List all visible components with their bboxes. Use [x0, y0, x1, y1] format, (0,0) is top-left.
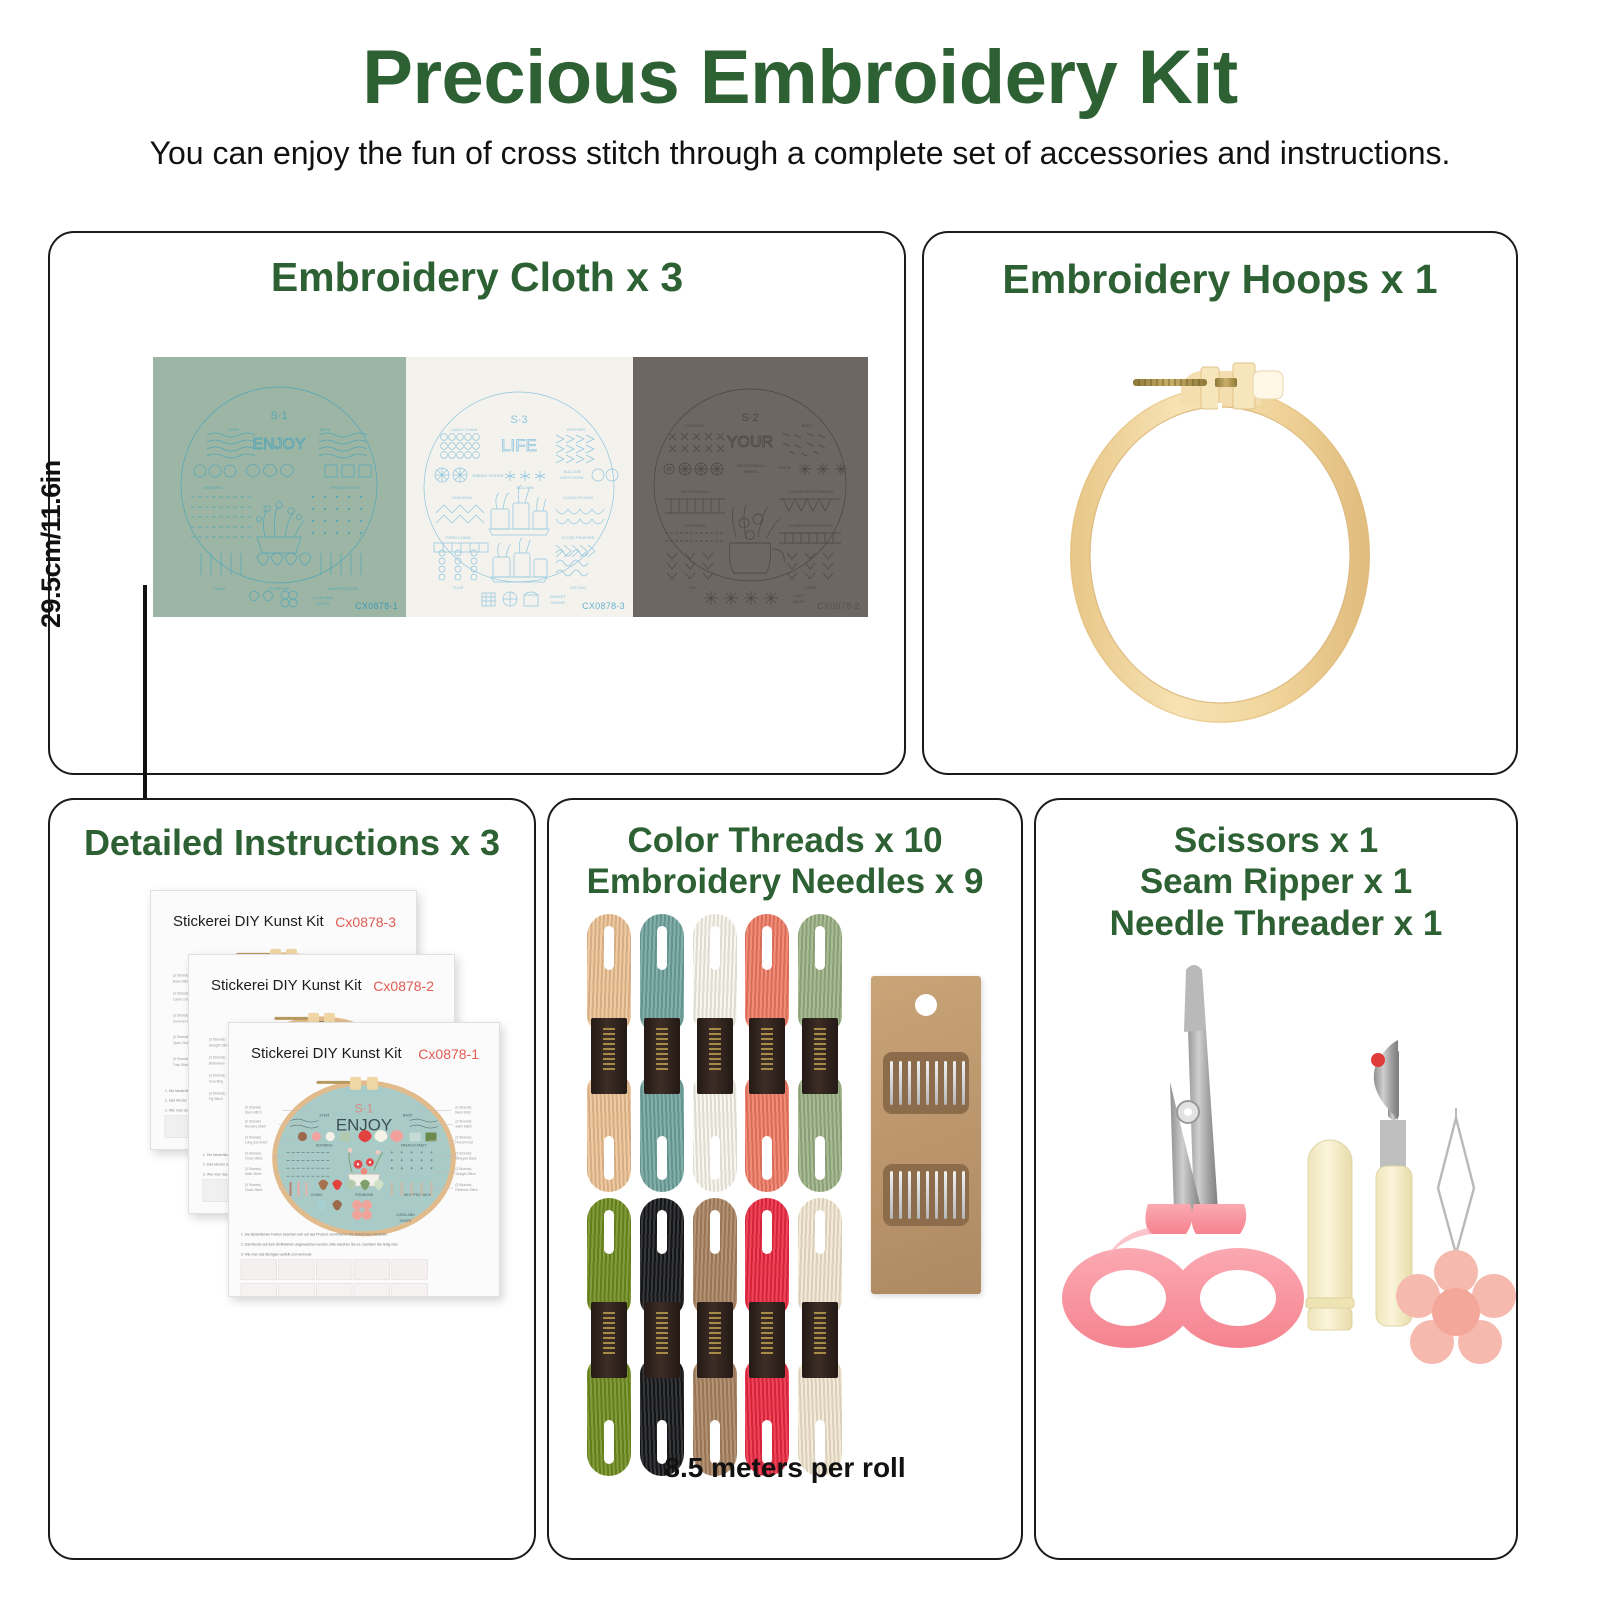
skein-label-band: [802, 1018, 838, 1094]
svg-text:(3 Strands): (3 Strands): [245, 1183, 261, 1187]
svg-text:S·1: S·1: [270, 410, 287, 422]
panel-detailed-instructions: Detailed Instructions x 3 Stickerei DIY …: [48, 798, 536, 1560]
svg-text:S·3: S·3: [510, 414, 527, 426]
needle: [899, 1171, 902, 1219]
panel-title-threads-line2: Embroidery Needles x 9: [549, 861, 1021, 902]
panel-tools: Scissors x 1 Seam Ripper x 1 Needle Thre…: [1034, 798, 1518, 1560]
svg-text:Back stitch: Back stitch: [455, 1111, 471, 1115]
panel-embroidery-hoops: Embroidery Hoops x 1: [922, 231, 1518, 775]
skein-hole-top: [815, 1210, 825, 1254]
instruction-sheet-1: Stickerei DIY Kunst Kit Cx0878-1 S·1 ENJ…: [228, 1022, 500, 1297]
svg-text:CHEVRON: CHEVRON: [452, 495, 472, 500]
svg-text:3. Wie man das Stichgarn aufte: 3. Wie man das Stichgarn aufteilt und ve…: [241, 1253, 312, 1257]
panel-threads-needles: Color Threads x 10 Embroidery Needles x …: [547, 798, 1023, 1560]
hoop-image-holder: [924, 313, 1516, 753]
needle: [962, 1171, 965, 1219]
needle: [935, 1061, 938, 1105]
skein-hole-top: [604, 1210, 614, 1254]
svg-text:FISHBONE: FISHBONE: [269, 586, 290, 591]
instruction-sheet-stack: Stickerei DIY Kunst Kit Cx0878-3 S·3 (3 …: [50, 872, 534, 1532]
skein-label-band: [591, 1302, 627, 1378]
skein-label-band: [591, 1018, 627, 1094]
skein-hole-bottom: [710, 1136, 720, 1180]
needle-packet: [871, 976, 981, 1294]
svg-text:BUTTONHOLE: BUTTONHOLE: [737, 463, 765, 468]
svg-text:Long and Short: Long and Short: [245, 1140, 267, 1144]
needle-window-bottom: [883, 1164, 969, 1226]
needle: [926, 1061, 929, 1105]
packet-hang-hole: [915, 994, 937, 1016]
needle: [962, 1061, 965, 1105]
cloth-swatch-row: S·1 STEM BACK ENJOY RU: [153, 357, 868, 617]
svg-text:COUCHING: COUCHING: [684, 523, 706, 528]
panel-title-tools-line2: Seam Ripper x 1: [1036, 861, 1516, 902]
svg-text:(3 Strands): (3 Strands): [455, 1151, 471, 1155]
svg-text:Satin Stitch: Satin Stitch: [455, 1125, 472, 1129]
svg-text:Stem Stitch: Stem Stitch: [245, 1111, 262, 1115]
needle: [935, 1171, 938, 1219]
panel-title-hoops: Embroidery Hoops x 1: [924, 255, 1516, 303]
svg-text:(3 Strands): (3 Strands): [455, 1135, 471, 1139]
needle: [944, 1061, 947, 1105]
thread-length-note: 8.5 meters per roll: [549, 1452, 1021, 1484]
panel-title-tools: Scissors x 1 Seam Ripper x 1 Needle Thre…: [1036, 820, 1516, 944]
svg-text:BUTTONHOLE: BUTTONHOLE: [681, 489, 709, 494]
skein-hole-bottom: [762, 1136, 772, 1180]
sheet-code-2: Cx0878-2: [373, 978, 434, 994]
svg-text:CLOSED BUTTONHOLE: CLOSED BUTTONHOLE: [789, 489, 834, 494]
svg-text:(3 Strands): (3 Strands): [209, 1073, 226, 1077]
svg-text:2. Das Muster auf dem Stoffrah: 2. Das Muster auf dem Stoffrahmen abgewa…: [241, 1243, 398, 1247]
panel-embroidery-cloth: Embroidery Cloth x 3 29.5cm/11.6in S·1 S…: [48, 231, 906, 775]
needle: [917, 1061, 920, 1105]
svg-text:S·2: S·2: [741, 412, 758, 424]
needle: [908, 1061, 911, 1105]
svg-text:(3 Strands): (3 Strands): [455, 1183, 471, 1187]
cloth-pattern-1: S·1 STEM BACK ENJOY RU: [153, 357, 406, 617]
embroidery-hoop-icon: [1055, 323, 1385, 743]
svg-text:Running Stitch: Running Stitch: [245, 1125, 266, 1129]
svg-text:(3 Strands): (3 Strands): [245, 1167, 261, 1171]
cloth-code-2: CX0878-3: [582, 601, 625, 611]
svg-text:Couching: Couching: [209, 1079, 223, 1083]
svg-text:RUNNING: RUNNING: [316, 1143, 333, 1147]
skein-hole-bottom: [815, 1136, 825, 1180]
svg-text:ZIG ZAG: ZIG ZAG: [570, 585, 586, 590]
svg-text:BACK: BACK: [403, 1114, 413, 1118]
measure-label-vertical: 29.5cm/11.6in: [36, 448, 67, 628]
thread-skein-tan-peach: [585, 914, 633, 1192]
svg-text:(3 Strands): (3 Strands): [245, 1135, 261, 1139]
svg-text:FRENCH KNOT: FRENCH KNOT: [331, 485, 360, 490]
thread-skein-grid: [585, 914, 845, 1476]
needle: [890, 1061, 893, 1105]
svg-text:Straight Stitch: Straight Stitch: [455, 1172, 476, 1176]
needle: [899, 1061, 902, 1105]
sheet-code-1: Cx0878-1: [418, 1046, 479, 1062]
svg-text:OPEN CHAIN: OPEN CHAIN: [446, 535, 471, 540]
svg-text:STRAIGHT: STRAIGHT: [685, 423, 706, 428]
svg-text:WHIPPED BACK: WHIPPED BACK: [404, 1193, 432, 1197]
svg-text:(3 Strands): (3 Strands): [173, 1013, 190, 1017]
svg-text:BULLION: BULLION: [563, 469, 580, 474]
svg-text:STEM: STEM: [319, 1114, 329, 1118]
svg-text:(3 Strands): (3 Strands): [209, 1091, 226, 1095]
svg-text:CLOUD FILLING: CLOUD FILLING: [563, 495, 593, 500]
svg-text:(3 Strands): (3 Strands): [455, 1120, 471, 1124]
svg-text:Satin Stitch: Satin Stitch: [245, 1172, 262, 1176]
skein-hole-bottom: [657, 1136, 667, 1180]
svg-text:SHORT: SHORT: [316, 601, 330, 606]
needle: [953, 1061, 956, 1105]
svg-text:LONG AND: LONG AND: [396, 1213, 415, 1217]
svg-text:Fishbone Stitch: Fishbone Stitch: [455, 1188, 478, 1192]
thread-skein-red: [743, 1198, 791, 1476]
needle: [908, 1171, 911, 1219]
svg-text:SEED: SEED: [802, 423, 813, 428]
svg-text:WHIPPED BACK: WHIPPED BACK: [328, 586, 359, 591]
svg-text:CABLE CHAIN: CABLE CHAIN: [451, 427, 478, 432]
svg-text:(3 Strands): (3 Strands): [173, 992, 190, 996]
svg-text:Chain Stitch: Chain Stitch: [245, 1156, 263, 1160]
svg-text:DAISY: DAISY: [793, 599, 805, 604]
scissors-icon: [1062, 965, 1304, 1348]
skein-label-band: [644, 1302, 680, 1378]
skein-hole-top: [710, 1210, 720, 1254]
svg-text:PISTIL: PISTIL: [779, 465, 792, 470]
sheet-title-1: Stickerei DIY Kunst Kit: [251, 1045, 402, 1062]
skein-hole-top: [762, 926, 772, 970]
thread-display-area: [549, 904, 1021, 1524]
skein-label-band: [697, 1302, 733, 1378]
svg-text:SHORT: SHORT: [399, 1219, 412, 1223]
panel-title-threads: Color Threads x 10 Embroidery Needles x …: [549, 820, 1021, 903]
skein-label-band: [697, 1018, 733, 1094]
svg-text:1. Die tatsächlichen Farben be: 1. Die tatsächlichen Farben beziehen sic…: [241, 1233, 388, 1237]
svg-text:(3 Strands): (3 Strands): [173, 1035, 190, 1039]
skein-label-band: [644, 1018, 680, 1094]
svg-text:Buttonhole: Buttonhole: [209, 1061, 225, 1065]
skein-hole-top: [657, 926, 667, 970]
skein-hole-bottom: [604, 1136, 614, 1180]
svg-text:TULIP: TULIP: [452, 585, 464, 590]
svg-text:FERN: FERN: [806, 585, 817, 590]
svg-text:(3 Strands): (3 Strands): [455, 1106, 471, 1110]
svg-text:LIFE: LIFE: [501, 436, 537, 455]
skein-hole-top: [762, 1210, 772, 1254]
svg-text:Fly Stitch: Fly Stitch: [209, 1097, 223, 1101]
svg-text:YOUR: YOUR: [727, 434, 773, 451]
needle: [926, 1171, 929, 1219]
svg-text:(3 Strands): (3 Strands): [173, 1057, 190, 1061]
skein-label-band: [749, 1302, 785, 1378]
skein-label-band: [802, 1302, 838, 1378]
svg-text:(3 Strands): (3 Strands): [455, 1167, 471, 1171]
needle: [917, 1171, 920, 1219]
needle-threader-icon: [1396, 1108, 1516, 1364]
skein-hole-top: [710, 926, 720, 970]
page-title: Precious Embroidery Kit: [0, 34, 1600, 121]
needle: [944, 1171, 947, 1219]
panel-title-tools-line1: Scissors x 1: [1036, 820, 1516, 861]
cloth-swatch-1: S·1 STEM BACK ENJOY RU: [153, 357, 406, 617]
svg-text:CHAIN: CHAIN: [213, 586, 226, 591]
needle: [953, 1171, 956, 1219]
skein-hole-top: [657, 1210, 667, 1254]
svg-text:STEM: STEM: [227, 427, 238, 432]
svg-text:BACK: BACK: [320, 427, 331, 432]
thread-skein-teal: [638, 914, 686, 1192]
sheet-title-2: Stickerei DIY Kunst Kit: [211, 977, 362, 994]
cloth-swatch-3: S·2 YOUR STRAIGHT SEED: [633, 357, 868, 617]
svg-text:RIBBED SPIDER: RIBBED SPIDER: [473, 473, 504, 478]
panel-title-threads-line1: Color Threads x 10: [549, 820, 1021, 861]
svg-text:KNOT ROSE: KNOT ROSE: [560, 475, 584, 480]
thread-skein-sage-green: [796, 914, 844, 1192]
skein-label-band: [749, 1018, 785, 1094]
svg-text:ENJOY: ENJOY: [252, 436, 306, 453]
svg-text:WEAVE: WEAVE: [551, 600, 565, 605]
seam-ripper-cap-icon: [1306, 1140, 1354, 1330]
svg-text:(3 Strands): (3 Strands): [245, 1151, 261, 1155]
sheet-diagram-1: S·1 ENJOY STEM BACK RUNNING FRENCH KNOT …: [229, 1065, 499, 1296]
panel-title-cloth: Embroidery Cloth x 3: [50, 253, 904, 301]
product-infographic: Precious Embroidery Kit You can enjoy th…: [0, 0, 1600, 1600]
svg-text:Tulip Stitch: Tulip Stitch: [173, 1063, 190, 1067]
thread-skein-white: [691, 914, 739, 1192]
skein-hole-top: [815, 926, 825, 970]
skein-hole-top: [604, 926, 614, 970]
thread-skein-coral: [743, 914, 791, 1192]
svg-text:FRENCH KNOT: FRENCH KNOT: [401, 1143, 428, 1147]
sheet-title-3: Stickerei DIY Kunst Kit: [173, 913, 324, 930]
tools-illustration: [1036, 960, 1520, 1520]
thread-skein-olive: [585, 1198, 633, 1476]
svg-text:DOUBLE BUTTONHOLE: DOUBLE BUTTONHOLE: [789, 523, 834, 528]
svg-text:(3 Strands): (3 Strands): [245, 1106, 261, 1110]
svg-text:BASKET: BASKET: [550, 594, 566, 599]
cloth-code-3: CX0878-2: [817, 601, 860, 611]
svg-text:S·1: S·1: [355, 1102, 374, 1116]
thread-skein-black: [638, 1198, 686, 1476]
svg-text:CLOSE FEATHER: CLOSE FEATHER: [561, 535, 594, 540]
needle: [890, 1171, 893, 1219]
page-subtitle: You can enjoy the fun of cross stitch th…: [0, 135, 1600, 172]
thread-skein-ivory: [796, 1198, 844, 1476]
svg-text:LONG AND: LONG AND: [313, 595, 334, 600]
sheet-code-3: Cx0878-3: [335, 914, 396, 930]
cloth-pattern-2: S·3 LIFE CABLE CHAIN FEATHER: [406, 357, 633, 617]
svg-text:LAZY: LAZY: [794, 593, 804, 598]
thread-skein-brown: [691, 1198, 739, 1476]
svg-text:FLY: FLY: [689, 585, 696, 590]
svg-text:FEATHER: FEATHER: [567, 427, 585, 432]
svg-text:(3 Strands): (3 Strands): [209, 1056, 226, 1060]
svg-text:RUNNING: RUNNING: [204, 485, 223, 490]
svg-text:Chain Stitch: Chain Stitch: [245, 1188, 263, 1192]
cloth-pattern-3: S·2 YOUR STRAIGHT SEED: [633, 357, 868, 617]
svg-text:FISHBONE: FISHBONE: [355, 1193, 374, 1197]
panel-title-instructions: Detailed Instructions x 3: [50, 822, 534, 864]
cloth-code-1: CX0878-1: [355, 601, 398, 611]
svg-text:(3 Strands): (3 Strands): [173, 974, 190, 978]
svg-text:WHEEL: WHEEL: [744, 469, 759, 474]
needle-window-top: [883, 1052, 969, 1114]
svg-text:CHAIN: CHAIN: [311, 1193, 323, 1197]
svg-text:Straight Stitch: Straight Stitch: [209, 1044, 230, 1048]
svg-text:Whipped Back: Whipped Back: [455, 1156, 476, 1160]
svg-text:French Knot: French Knot: [455, 1140, 473, 1144]
panel-title-tools-line3: Needle Threader x 1: [1036, 903, 1516, 944]
svg-text:(3 Strands): (3 Strands): [245, 1120, 261, 1124]
cloth-swatch-2: S·3 LIFE CABLE CHAIN FEATHER: [406, 357, 633, 617]
tools-image-area: [1036, 960, 1516, 1520]
svg-text:(3 Strands): (3 Strands): [209, 1038, 226, 1042]
svg-text:Back stitch: Back stitch: [173, 980, 189, 984]
